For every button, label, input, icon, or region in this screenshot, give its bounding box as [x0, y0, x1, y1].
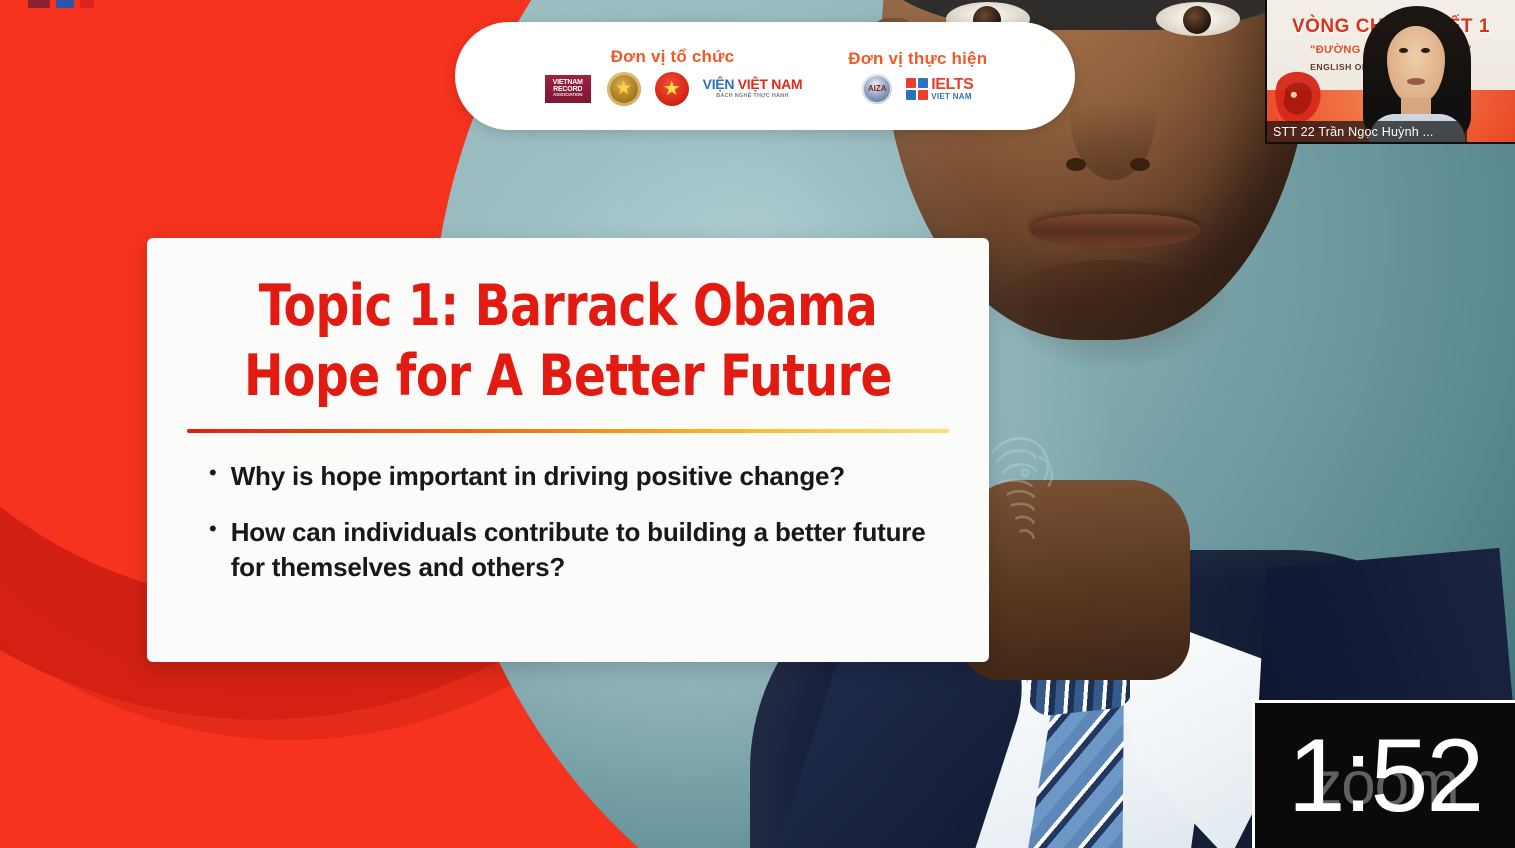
- vra-line1: VIETNAM: [553, 79, 583, 86]
- vvn-word1: VIỆN: [703, 76, 734, 92]
- vvn-word2: VIỆT NAM: [738, 76, 803, 92]
- participant-name-label: STT 22 Trần Ngọc Huỳnh ...: [1273, 125, 1434, 139]
- nostril-right: [1130, 158, 1150, 171]
- iris-right: [1183, 6, 1211, 34]
- slide-content-card: Topic 1: Barrack Obama Hope for A Better…: [147, 238, 989, 662]
- participant-video-tile[interactable]: VÒNG CHUNG KẾT 1 "ĐƯỜNG ĐẾN VINH QUANG" …: [1265, 0, 1515, 144]
- slide-bullet-list: • Why is hope important in driving posit…: [187, 459, 949, 584]
- red-star-emblem-logo: ★: [655, 72, 689, 106]
- aiza-emblem-label: AIZA: [868, 84, 887, 93]
- vra-line3: ASSOCIATION: [553, 93, 582, 98]
- countdown-timer-panel: zoom 1:52: [1252, 700, 1515, 848]
- red-star-icon: ★: [663, 79, 681, 99]
- organizer-caption: Đơn vị tổ chức: [611, 47, 735, 67]
- mouth: [1030, 214, 1200, 248]
- bullet-text: Why is hope important in driving positiv…: [231, 459, 845, 493]
- list-item: • How can individuals contribute to buil…: [209, 515, 927, 584]
- participant-name-bar: STT 22 Trần Ngọc Huỳnh ...: [1267, 121, 1467, 142]
- vvn-tagline: BÁCH NGHỆ THỰC HÀNH: [716, 94, 788, 100]
- vvn-wordmark: VIỆN VIỆT NAM: [703, 77, 803, 92]
- slide-title: Topic 1: Barrack Obama Hope for A Better…: [217, 272, 918, 411]
- screen-root: Đơn vị tổ chức VIETNAM RECORD ASSOCIATIO…: [0, 0, 1515, 848]
- sponsor-header-bar: Đơn vị tổ chức VIETNAM RECORD ASSOCIATIO…: [455, 22, 1075, 130]
- slide-title-line1: Topic 1: Barrack Obama: [217, 272, 918, 342]
- vietnam-record-association-logo: VIETNAM RECORD ASSOCIATION: [543, 73, 593, 105]
- neck: [960, 480, 1190, 680]
- corner-badge-part-c: [80, 0, 94, 8]
- title-divider: [187, 429, 949, 433]
- corner-badge-part-b: [56, 0, 74, 8]
- executor-caption: Đơn vị thực hiện: [848, 49, 987, 69]
- countdown-timer-value: 1:52: [1288, 724, 1482, 828]
- organizer-group: Đơn vị tổ chức VIETNAM RECORD ASSOCIATIO…: [543, 47, 803, 106]
- corner-badge-part-a: [28, 0, 50, 8]
- ielts-word1: IELTS: [931, 77, 973, 93]
- organizer-logos: VIETNAM RECORD ASSOCIATION ★ ★ VIỆN VIỆT…: [543, 72, 803, 106]
- corner-badge-cropped: [28, 0, 102, 8]
- executor-logos: AIZA IELTS VIET NAM: [862, 74, 973, 104]
- gold-star-icon: ★: [615, 79, 632, 98]
- ielts-word2: VIET NAM: [931, 93, 973, 101]
- ielts-wordmark: IELTS VIET NAM: [931, 77, 973, 101]
- aiza-emblem-logo: AIZA: [862, 74, 892, 104]
- ielts-square-4: [918, 90, 928, 100]
- gold-emblem-logo: ★: [607, 72, 641, 106]
- nostril-left: [1066, 158, 1086, 171]
- vien-viet-nam-logo: VIỆN VIỆT NAM BÁCH NGHỆ THỰC HÀNH: [703, 77, 803, 99]
- ielts-square-1: [906, 78, 916, 88]
- executor-group: Đơn vị thực hiện AIZA IELTS VIET NAM: [848, 49, 987, 104]
- eye-right: [1156, 2, 1240, 36]
- ielts-square-3: [906, 90, 916, 100]
- participant-eye-left: [1399, 48, 1408, 53]
- ielts-vietnam-logo: IELTS VIET NAM: [906, 77, 973, 101]
- participant-mouth: [1407, 78, 1425, 85]
- bullet-marker-icon: •: [209, 459, 217, 484]
- participant-eye-right: [1421, 48, 1430, 53]
- ielts-squares-icon: [906, 78, 928, 100]
- list-item: • Why is hope important in driving posit…: [209, 459, 927, 493]
- bullet-marker-icon: •: [209, 515, 217, 540]
- bullet-text: How can individuals contribute to buildi…: [231, 515, 927, 584]
- ielts-square-2: [918, 78, 928, 88]
- chin-shadow: [986, 260, 1236, 370]
- slide-title-line2: Hope for A Better Future: [217, 342, 918, 412]
